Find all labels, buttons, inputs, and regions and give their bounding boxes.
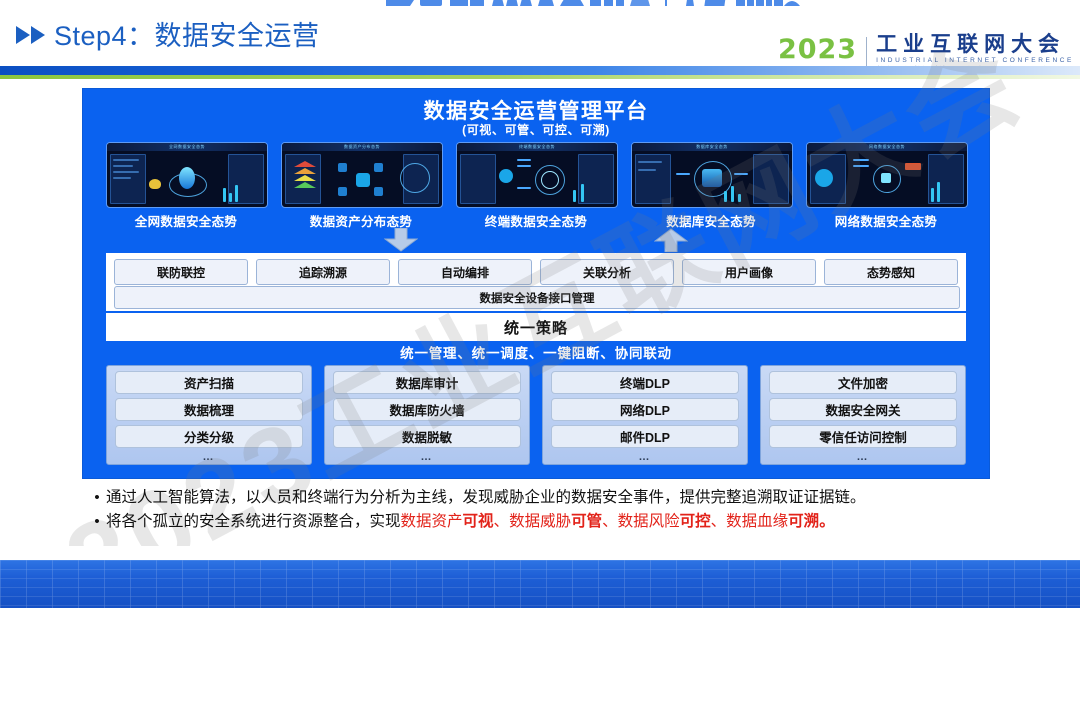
header-rule-green [0,75,1080,79]
capability-button[interactable]: 用户画像 [682,259,816,285]
dashboard-thumbnail[interactable]: 全网数据安全态势 [106,142,268,208]
bullet-text-1: 通过人工智能算法，以人员和终端行为分析为主线，发现威胁企业的数据安全事件，提供完… [106,487,866,509]
bullet-list: • 通过人工智能算法，以人员和终端行为分析为主线，发现威胁企业的数据安全事件，提… [88,487,1008,535]
capability-item[interactable]: 数据安全网关 [769,398,957,421]
bullet-text-2: 将各个孤立的安全系统进行资源整合，实现数据资产可视、数据威胁可管、数据风险可控、… [106,511,835,533]
more-indicator: … [115,452,303,462]
capability-item[interactable]: 文件加密 [769,371,957,394]
bottom-decorative-band [0,560,1080,608]
logo-name-cn: 工业互联网大会 [876,34,1074,56]
header-rule-blue [0,66,1080,75]
bullet-item-1: • 通过人工智能算法，以人员和终端行为分析为主线，发现威胁企业的数据安全事件，提… [88,487,1008,509]
bullet-dot-2: • [88,511,106,533]
dashboard-thumbnail[interactable]: 数据资产分布态势 [281,142,443,208]
dashboard-card[interactable]: 网络数据安全态势 网络数据安全态势 [806,142,966,226]
capability-item[interactable]: 邮件DLP [551,425,739,448]
capability-columns: 资产扫描数据梳理分类分级 … 数据库审计数据库防火墙数据脱敏 … 终端DLP网络… [106,365,966,465]
dashboard-card[interactable]: 数据资产分布态势 数据资产分布态势 [281,142,441,226]
bottom-grid-pattern [0,560,1080,608]
thumbnail-screen-title: 数据库安全态势 [632,144,792,150]
capability-button[interactable]: 关联分析 [540,259,674,285]
strategy-band: 统一策略 [106,313,966,341]
capability-band: 联防联控 追踪溯源 自动编排 关联分析 用户画像 态势感知 数据安全设备接口管理 [106,253,966,311]
dashboard-thumbnail[interactable]: 数据库安全态势 [631,142,793,208]
more-indicator: … [769,452,957,462]
capability-button[interactable]: 追踪溯源 [256,259,390,285]
logo-name-en: INDUSTRIAL INTERNET CONFERENCE [876,56,1074,66]
dashboard-thumbnail[interactable]: 网络数据安全态势 [806,142,968,208]
capability-item[interactable]: 资产扫描 [115,371,303,394]
city-skyline-illustration [380,0,800,12]
bullet-dot: • [88,487,106,509]
dashboard-card[interactable]: 数据库安全态势 数据库安全态势 [631,142,791,226]
more-indicator: … [333,452,521,462]
capability-column: 资产扫描数据梳理分类分级 … [106,365,312,465]
dashboard-card[interactable]: 终端数据安全态势 终端数据安全态势 [456,142,616,226]
arrow-band-upper [106,228,966,252]
platform-panel: 数据安全运营管理平台 (可视、可管、可控、可溯) 全网数据安全态势 全网数据安全… [82,88,990,479]
capability-item[interactable]: 终端DLP [551,371,739,394]
double-chevron-right-icon [16,24,50,46]
capability-item[interactable]: 分类分级 [115,425,303,448]
capability-button[interactable]: 联防联控 [114,259,248,285]
strategy-subtitle: 统一管理、统一调度、一键阻断、协同联动 [106,341,966,363]
thumbnail-screen-title: 数据资产分布态势 [282,144,442,150]
dashboard-card[interactable]: 全网数据安全态势 全网数据安全态势 [106,142,266,226]
capability-row: 联防联控 追踪溯源 自动编排 关联分析 用户画像 态势感知 [114,259,958,283]
capability-button[interactable]: 态势感知 [824,259,958,285]
capability-button[interactable]: 自动编排 [398,259,532,285]
thumbnail-screen-title: 网络数据安全态势 [807,144,967,150]
capability-item[interactable]: 网络DLP [551,398,739,421]
capability-item[interactable]: 数据脱敏 [333,425,521,448]
platform-subtitle: (可视、可管、可控、可溯) [82,121,990,138]
capability-column: 终端DLP网络DLP邮件DLP … [542,365,748,465]
dashboard-thumbnail[interactable]: 终端数据安全态势 [456,142,618,208]
interface-management-bar[interactable]: 数据安全设备接口管理 [114,286,960,309]
strategy-title: 统一策略 [504,317,568,338]
capability-item[interactable]: 数据库防火墙 [333,398,521,421]
page-title: Step4：数据安全运营 [54,14,320,53]
capability-item[interactable]: 数据梳理 [115,398,303,421]
capability-column: 文件加密数据安全网关零信任访问控制 … [760,365,966,465]
bullet-item-2: • 将各个孤立的安全系统进行资源整合，实现数据资产可视、数据威胁可管、数据风险可… [88,511,1008,533]
thumbnail-screen-title: 全网数据安全态势 [107,144,267,150]
capability-column: 数据库审计数据库防火墙数据脱敏 … [324,365,530,465]
more-indicator: … [551,452,739,462]
dashboard-thumbnail-row: 全网数据安全态势 全网数据安全态势 数据资产分布态势 数据资产分布态势 终端数据… [106,142,966,226]
thumbnail-screen-title: 终端数据安全态势 [457,144,617,150]
capability-item[interactable]: 数据库审计 [333,371,521,394]
logo-year: 2023 [778,36,857,63]
capability-item[interactable]: 零信任访问控制 [769,425,957,448]
